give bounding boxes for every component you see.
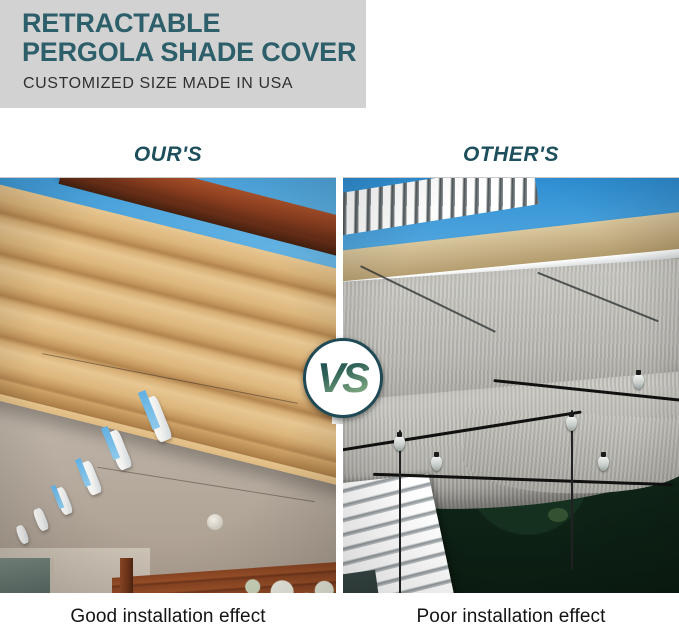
caption-poor-installation: Poor installation effect xyxy=(343,605,679,629)
flowering-tree xyxy=(238,576,336,593)
glass-sliding-door xyxy=(0,558,54,593)
photo-good-installation xyxy=(0,177,336,593)
header-banner: RETRACTABLE PERGOLA SHADE COVER CUSTOMIZ… xyxy=(0,0,366,108)
page-title: RETRACTABLE PERGOLA SHADE COVER xyxy=(22,9,362,67)
title-line-1: RETRACTABLE xyxy=(22,9,362,38)
page-subtitle: CUSTOMIZED SIZE MADE IN USA xyxy=(23,74,293,94)
photo-poor-installation xyxy=(343,177,679,593)
string-light-hanger xyxy=(399,430,401,593)
column-label-others: OTHER'S xyxy=(343,143,679,167)
vs-badge-label: VS xyxy=(317,357,369,399)
satellite-dish xyxy=(207,514,223,530)
string-light-hanger xyxy=(571,410,573,570)
column-label-ours: OUR'S xyxy=(0,143,336,167)
foliage-leaf xyxy=(548,508,568,522)
caption-good-installation: Good installation effect xyxy=(0,605,336,629)
pergola-post xyxy=(120,558,133,593)
vs-badge: VS xyxy=(303,338,383,418)
title-line-2: PERGOLA SHADE COVER xyxy=(22,38,362,67)
